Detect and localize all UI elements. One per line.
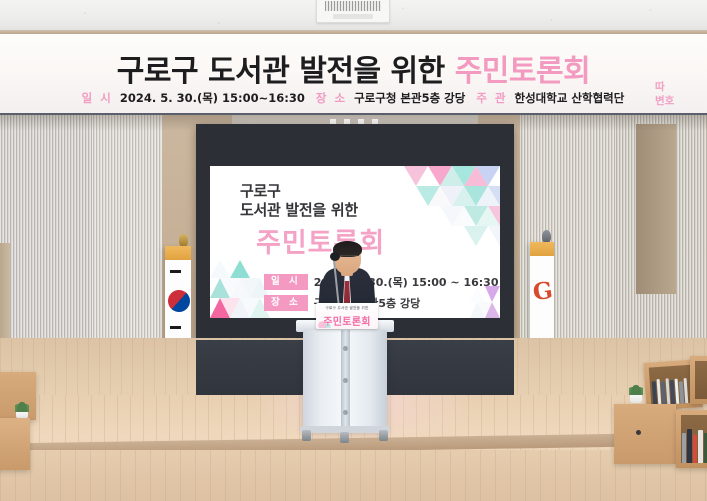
- slide-line-2: 도서관 발전을 위한: [240, 199, 358, 220]
- wooden-cube-left-front: [0, 418, 30, 470]
- banner-side-text: 따 변호: [655, 80, 705, 108]
- podium-caster-right: [379, 430, 388, 441]
- banner-place-value: 구로구청 본관5층 강당: [354, 91, 465, 105]
- event-banner: 구로구 도서관 발전을 위한 주민토론회 일 시2024. 5. 30.(목) …: [0, 34, 707, 115]
- podium-sign-decoration: [318, 319, 332, 328]
- guro-logo-letter: G: [531, 277, 554, 306]
- banner-date-value: 2024. 5. 30.(목) 15:00~16:30: [120, 91, 305, 105]
- banner-host-value: 한성대학교 산학협력단: [515, 91, 625, 105]
- banner-host-label: 주 관: [476, 91, 507, 105]
- cube-inner-right-far: [695, 361, 707, 399]
- slide-line-1: 구로구: [240, 180, 281, 201]
- ac-grille: [325, 1, 381, 11]
- plant-leaves-left: [15, 399, 29, 412]
- book: [687, 429, 692, 463]
- slide-place-chip: 장 소: [264, 295, 308, 310]
- photo-scene: 구로구 도서관 발전을 위한 주민토론회 일 시2024. 5. 30.(목) …: [0, 0, 707, 501]
- banner-subtitle: 일 시2024. 5. 30.(목) 15:00~16:30 장 소구로구청 본…: [0, 90, 707, 106]
- wooden-cube-right-door: [614, 404, 676, 464]
- wall-recess: [636, 124, 676, 294]
- banner-title-main: 구로구 도서관 발전을 위한: [117, 54, 455, 89]
- slide-date-chip: 일 시: [264, 274, 308, 289]
- trigram-2: [170, 326, 181, 329]
- slide-date-row: 일 시 2024. 5. 30.(목) 15:00 ~ 16:30: [264, 274, 498, 290]
- wooden-cube-right-far: [690, 356, 707, 404]
- microphone-icon: [330, 252, 340, 261]
- podium-caster-center: [340, 432, 349, 443]
- podium-sign-small-text: 구로구 도서관 발전을 위한: [316, 306, 378, 311]
- banner-place-label: 장 소: [316, 91, 347, 105]
- banner-side-line1: 따: [655, 80, 705, 94]
- banner-date-label: 일 시: [82, 91, 113, 105]
- stage-front-floor: [0, 450, 707, 501]
- podium-body: [303, 330, 387, 430]
- flag-top-band-right: [530, 242, 554, 256]
- ac-slot: [333, 14, 373, 19]
- wooden-cube-right-bottom: [676, 410, 707, 468]
- podium-sign: 구로구 도서관 발전을 위한 주민토론회: [316, 303, 378, 329]
- banner-title-highlight: 주민토론회: [455, 54, 591, 89]
- ceiling-ac-vent-icon: [316, 0, 390, 23]
- banner-title: 구로구 도서관 발전을 위한 주민토론회: [0, 46, 707, 90]
- cube-inner-right-bottom: [681, 415, 707, 463]
- book: [698, 430, 703, 463]
- podium-center-strip: [341, 330, 350, 430]
- slide-line-3-title: 주민토론회: [256, 221, 385, 260]
- book: [682, 433, 686, 463]
- cube-knob-icon: [636, 430, 641, 435]
- podium-caster-left: [302, 430, 311, 441]
- plant-leaves-right: [629, 382, 643, 395]
- trigram-1: [170, 270, 181, 273]
- taeguk-circle-icon: [164, 286, 194, 316]
- flag-top-band-left: [165, 246, 191, 260]
- banner-side-line2: 변호: [655, 94, 705, 108]
- book: [684, 378, 689, 403]
- book: [693, 435, 697, 463]
